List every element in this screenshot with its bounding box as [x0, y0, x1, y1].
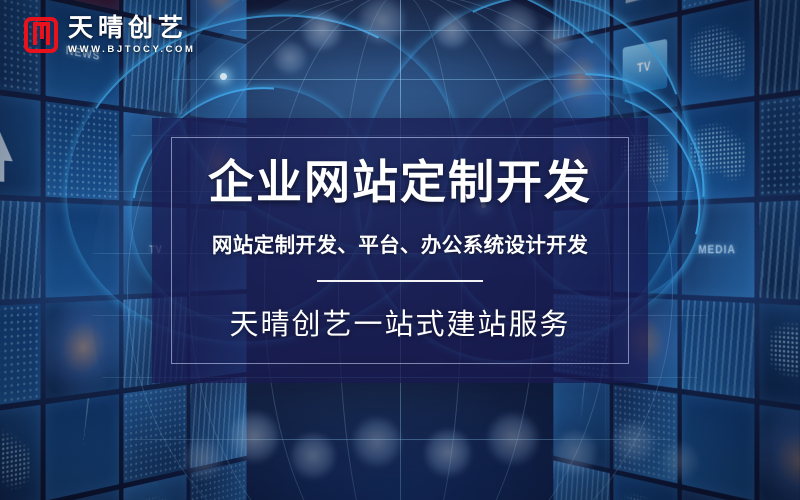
page-title: 企业网站定制开发 [208, 160, 592, 206]
brand-logo[interactable]: 天晴创艺 WWW.BJTOCY.COM [24, 15, 196, 55]
brand-name: 天晴创艺 [68, 15, 196, 41]
page-subtitle: 网站定制开发、平台、办公系统设计开发 [212, 228, 588, 258]
tianqing-square-logo-icon [24, 17, 58, 53]
headline-panel-border: 企业网站定制开发 网站定制开发、平台、办公系统设计开发 天晴创艺一站式建站服务 [171, 137, 629, 364]
promo-banner: NEWS TV [0, 0, 800, 500]
divider-rule [317, 280, 483, 282]
brand-url: WWW.BJTOCY.COM [68, 44, 196, 55]
page-tagline: 天晴创艺一站式建站服务 [229, 301, 570, 343]
headline-panel: 企业网站定制开发 网站定制开发、平台、办公系统设计开发 天晴创艺一站式建站服务 [152, 118, 648, 383]
